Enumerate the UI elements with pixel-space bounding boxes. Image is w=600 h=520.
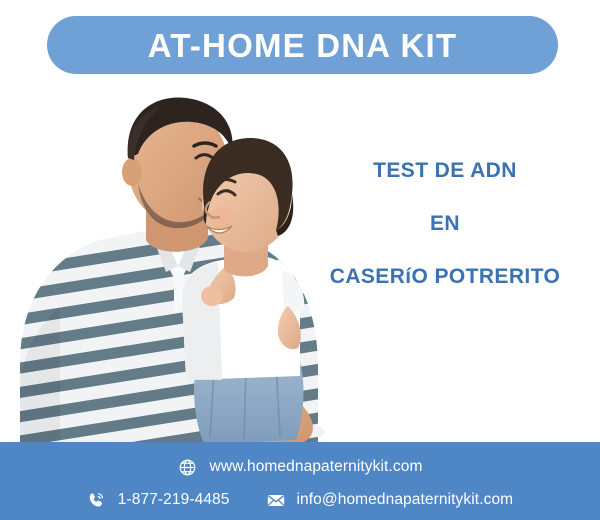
email-contact[interactable]: info@homednapaternitykit.com [266,490,514,510]
footer-website-row: www.homednapaternitykit.com [0,452,600,482]
headline-line-2: EN [290,213,600,234]
email-label[interactable]: info@homednapaternitykit.com [297,492,514,508]
footer-contact-row: 1-877-219-4485 info@homednapaternitykit.… [0,484,600,516]
headline-line-1: TEST DE ADN [290,160,600,181]
headline-block: TEST DE ADN EN CASERíO POTRERITO [290,160,600,287]
poster-canvas: AT-HOME DNA KIT [0,0,600,520]
header-pill-banner: AT-HOME DNA KIT [47,16,558,74]
footer-contact-bar: www.homednapaternitykit.com 1-877-219-44… [0,442,600,520]
phone-contact[interactable]: 1-877-219-4485 [87,490,230,510]
globe-icon [178,457,198,477]
website-label[interactable]: www.homednapaternitykit.com [210,459,423,475]
headline-line-3: CASERíO POTRERITO [290,266,600,287]
envelope-icon [266,490,286,510]
phone-icon [87,490,107,510]
phone-label[interactable]: 1-877-219-4485 [118,492,230,508]
page-title: AT-HOME DNA KIT [148,29,457,62]
